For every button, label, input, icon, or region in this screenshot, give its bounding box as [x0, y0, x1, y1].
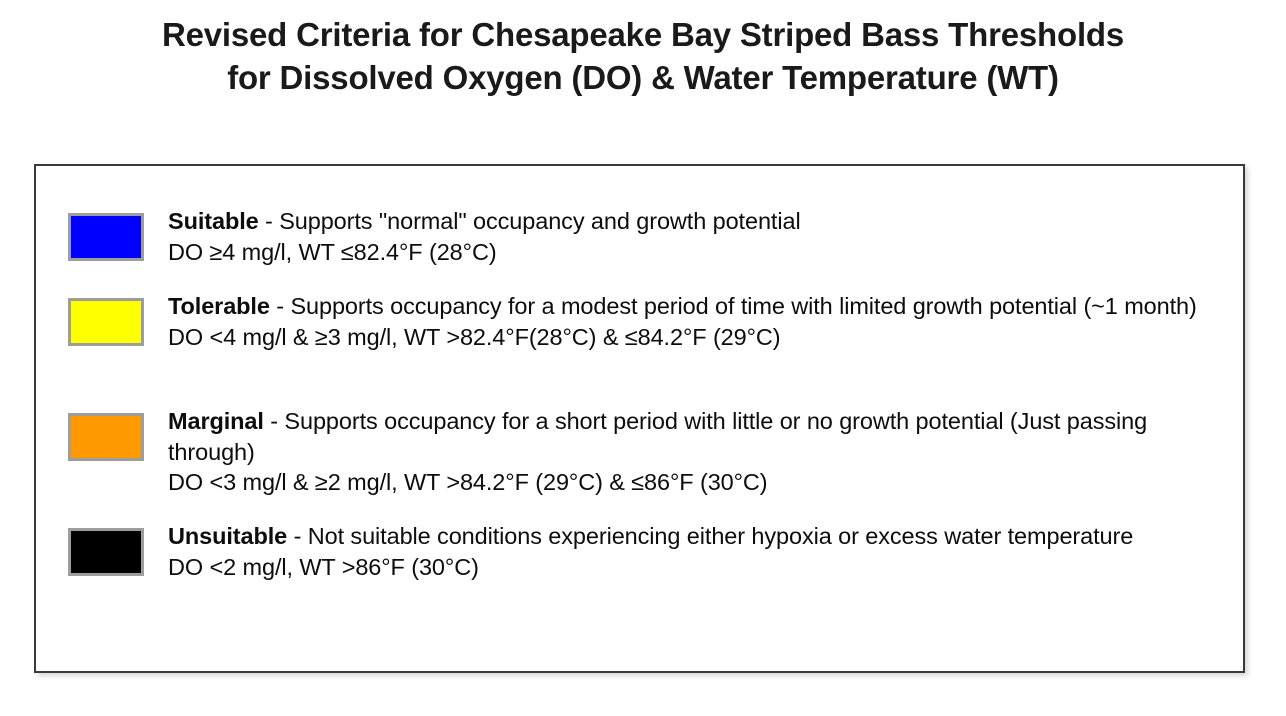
legend-panel: Suitable - Supports "normal" occupancy a… — [34, 164, 1245, 673]
legend-entry-text-unsuitable: Unsuitable - Not suitable conditions exp… — [168, 521, 1225, 582]
legend-desc-unsuitable: Not suitable conditions experiencing eit… — [308, 523, 1134, 549]
legend-label-unsuitable: Unsuitable — [168, 523, 287, 549]
legend-label-tolerable: Tolerable — [168, 293, 270, 319]
legend-entry-text-marginal: Marginal - Supports occupancy for a shor… — [168, 406, 1225, 498]
legend-criteria-suitable: DO ≥4 mg/l, WT ≤82.4°F (28°C) — [168, 237, 1225, 268]
legend-entry-text-suitable: Suitable - Supports "normal" occupancy a… — [168, 206, 1225, 267]
page-title: Revised Criteria for Chesapeake Bay Stri… — [0, 14, 1286, 100]
color-swatch-yellow — [68, 298, 144, 346]
legend-criteria-unsuitable: DO <2 mg/l, WT >86°F (30°C) — [168, 552, 1225, 583]
legend-entry-text-tolerable: Tolerable - Supports occupancy for a mod… — [168, 291, 1225, 352]
legend-desc-marginal: Supports occupancy for a short period wi… — [168, 408, 1147, 465]
color-swatch-orange — [68, 413, 144, 461]
legend-description-marginal: Marginal - Supports occupancy for a shor… — [168, 406, 1225, 467]
legend-separator-marginal: - — [264, 408, 285, 434]
legend-label-marginal: Marginal — [168, 408, 264, 434]
color-swatch-black — [68, 528, 144, 576]
legend-label-suitable: Suitable — [168, 208, 259, 234]
legend-criteria-tolerable: DO <4 mg/l & ≥3 mg/l, WT >82.4°F(28°C) &… — [168, 322, 1225, 353]
legend-description-unsuitable: Unsuitable - Not suitable conditions exp… — [168, 521, 1225, 552]
legend-criteria-marginal: DO <3 mg/l & ≥2 mg/l, WT >84.2°F (29°C) … — [168, 467, 1225, 498]
legend-separator-tolerable: - — [270, 293, 291, 319]
color-swatch-blue — [68, 213, 144, 261]
slide: Revised Criteria for Chesapeake Bay Stri… — [0, 0, 1286, 716]
page-title-line-1: Revised Criteria for Chesapeake Bay Stri… — [30, 14, 1256, 57]
legend-description-suitable: Suitable - Supports "normal" occupancy a… — [168, 206, 1225, 237]
page-title-line-2: for Dissolved Oxygen (DO) & Water Temper… — [30, 57, 1256, 100]
legend-description-tolerable: Tolerable - Supports occupancy for a mod… — [168, 291, 1225, 322]
legend-desc-tolerable: Supports occupancy for a modest period o… — [290, 293, 1196, 319]
legend-separator-suitable: - — [259, 208, 280, 234]
legend-separator-unsuitable: - — [287, 523, 308, 549]
legend-desc-suitable: Supports "normal" occupancy and growth p… — [279, 208, 800, 234]
